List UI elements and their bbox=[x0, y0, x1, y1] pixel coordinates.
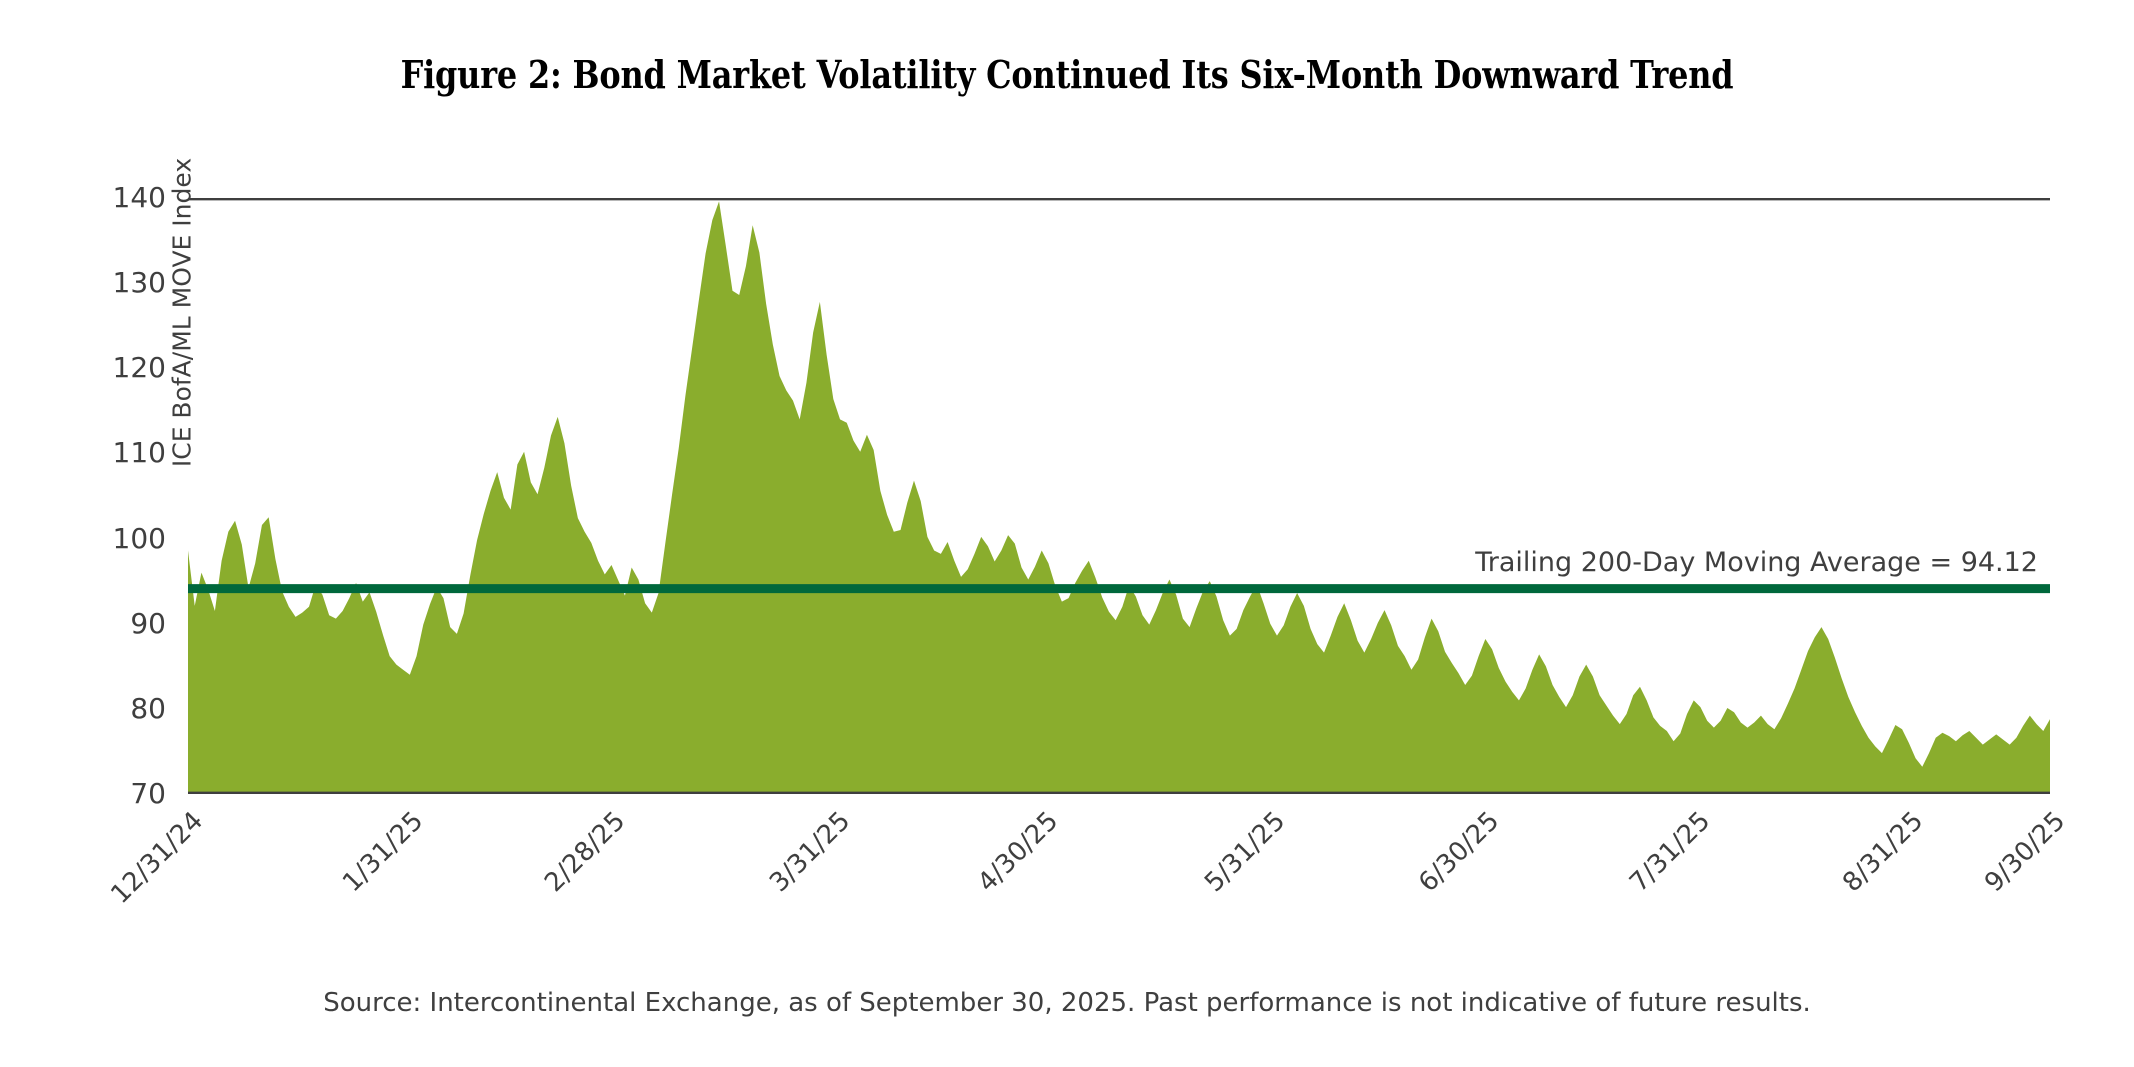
x-tick-label: 9/30/25 bbox=[1979, 806, 2071, 898]
x-tick-label: 8/31/25 bbox=[1838, 806, 1930, 898]
page-title: Figure 2: Bond Market Volatility Continu… bbox=[171, 52, 1964, 97]
x-tick-label: 6/30/25 bbox=[1413, 806, 1505, 898]
y-tick-label: 140 bbox=[46, 184, 166, 212]
x-tick-label: 3/31/25 bbox=[765, 806, 857, 898]
y-tick-label: 130 bbox=[46, 269, 166, 297]
x-tick-label: 4/30/25 bbox=[973, 806, 1065, 898]
x-tick-label: 1/31/25 bbox=[337, 806, 429, 898]
plot-area bbox=[188, 198, 2050, 794]
x-tick-label: 5/31/25 bbox=[1199, 806, 1291, 898]
source-note: Source: Intercontinental Exchange, as of… bbox=[0, 988, 2134, 1018]
x-tick-label: 2/28/25 bbox=[539, 806, 631, 898]
y-tick-label: 120 bbox=[46, 354, 166, 382]
y-tick-label: 110 bbox=[46, 439, 166, 467]
area-series-move-index bbox=[188, 201, 2050, 794]
chart-svg bbox=[188, 198, 2050, 794]
x-tick-label: 7/31/25 bbox=[1624, 806, 1716, 898]
y-tick-label: 100 bbox=[46, 525, 166, 553]
y-tick-label: 70 bbox=[46, 780, 166, 808]
y-tick-label: 90 bbox=[46, 610, 166, 638]
x-tick-label: 12/31/24 bbox=[105, 806, 209, 910]
y-tick-label: 80 bbox=[46, 695, 166, 723]
moving-average-annotation: Trailing 200-Day Moving Average = 94.12 bbox=[1475, 547, 2038, 578]
figure-container: Figure 2: Bond Market Volatility Continu… bbox=[0, 0, 2134, 1067]
